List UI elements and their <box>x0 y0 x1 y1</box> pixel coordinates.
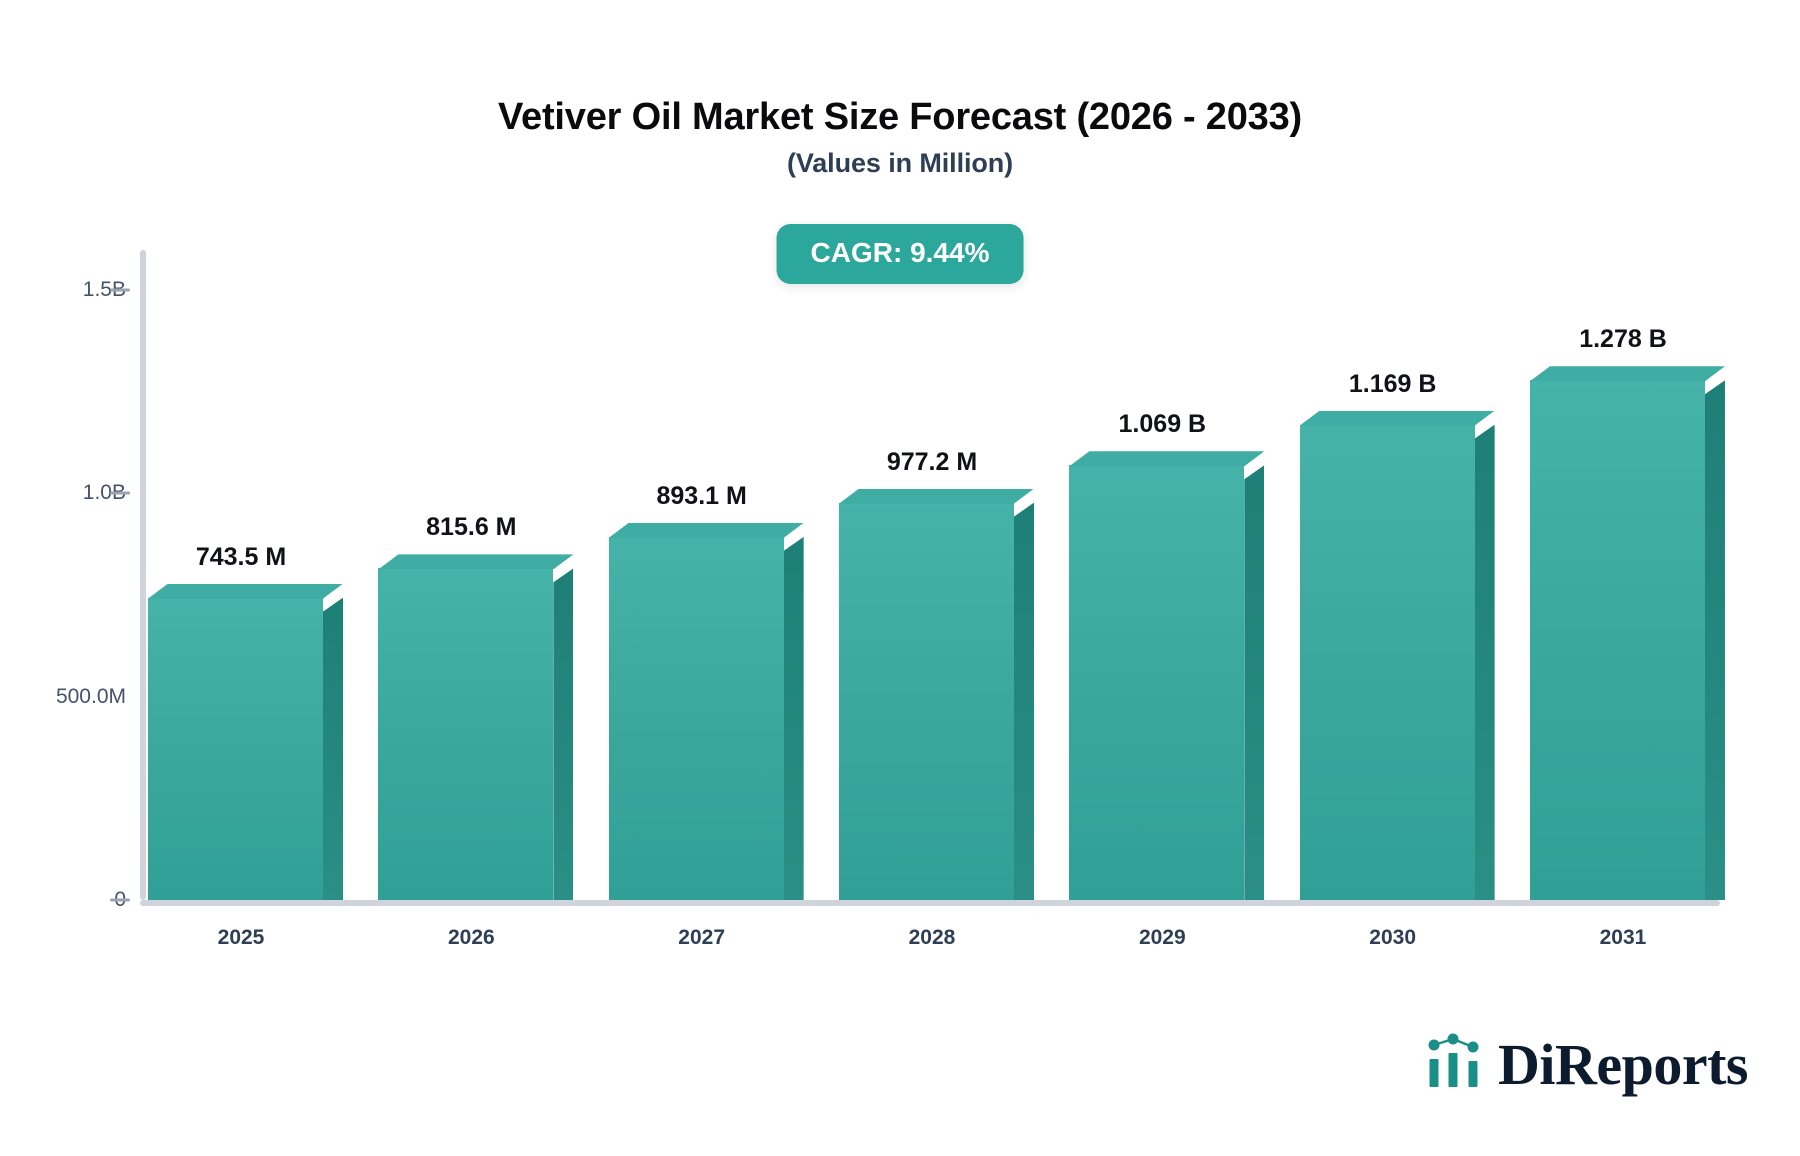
bar-chart-icon <box>1426 1033 1488 1096</box>
cagr-badge: CAGR: 9.44% <box>777 224 1024 284</box>
bar-slot: 1.169 B2030 <box>1292 290 1490 900</box>
bar-slot: 1.278 B2031 <box>1522 290 1720 900</box>
plot-area: 0500.0M1.0B1.5B 743.5 M2025815.6 M202689… <box>140 290 1720 900</box>
x-axis-tick-label: 2029 <box>1057 926 1267 950</box>
bar-value-label: 977.2 M <box>827 448 1037 477</box>
bar-slot: 977.2 M2028 <box>831 290 1029 900</box>
y-axis-tick-mark <box>110 289 130 292</box>
bar[interactable]: 743.5 M2025 <box>148 598 323 900</box>
bar[interactable]: 815.6 M2026 <box>378 568 553 900</box>
chart-title: Vetiver Oil Market Size Forecast (2026 -… <box>0 96 1800 139</box>
bar-slot: 893.1 M2027 <box>601 290 799 900</box>
bar[interactable]: 1.278 B2031 <box>1530 380 1705 900</box>
bar-group: 743.5 M2025815.6 M2026893.1 M2027977.2 M… <box>140 290 1720 900</box>
bar-front-face <box>1530 380 1705 900</box>
bar-value-label: 1.278 B <box>1518 325 1728 354</box>
bar-slot: 815.6 M2026 <box>370 290 568 900</box>
bar-top-face <box>1069 451 1264 466</box>
bar-side-face <box>784 537 804 900</box>
bar-value-label: 815.6 M <box>366 513 576 542</box>
bar[interactable]: 893.1 M2027 <box>609 537 784 900</box>
y-axis-tick-mark <box>110 492 130 495</box>
bar-value-label: 893.1 M <box>597 482 807 511</box>
logo-text: DiReports <box>1498 1036 1748 1094</box>
x-axis-line <box>140 900 1720 906</box>
bar-front-face <box>839 503 1014 900</box>
bar-slot: 1.069 B2029 <box>1061 290 1259 900</box>
x-axis-tick-label: 2030 <box>1288 926 1498 950</box>
x-axis-tick-label: 2026 <box>366 926 576 950</box>
brand-logo: DiReports <box>1426 1033 1748 1096</box>
bar-top-face <box>839 489 1034 504</box>
bar[interactable]: 1.169 B2030 <box>1300 425 1475 900</box>
bar-top-face <box>378 554 573 569</box>
bar-front-face <box>609 537 784 900</box>
bar-side-face <box>1244 465 1264 900</box>
bar-front-face <box>1069 465 1244 900</box>
x-axis-tick-label: 2025 <box>136 926 346 950</box>
y-axis-tick-label: 500.0M <box>56 685 126 709</box>
bar[interactable]: 977.2 M2028 <box>839 503 1014 900</box>
bar-side-face <box>1475 425 1495 900</box>
bar-front-face <box>378 568 553 900</box>
bar-side-face <box>553 568 573 900</box>
bar-value-label: 1.069 B <box>1057 410 1267 439</box>
x-axis-tick-label: 2031 <box>1518 926 1728 950</box>
x-axis-tick-label: 2027 <box>597 926 807 950</box>
bar-value-label: 743.5 M <box>136 543 346 572</box>
bar-top-face <box>609 523 804 538</box>
bar-front-face <box>1300 425 1475 900</box>
bar-top-face <box>1530 366 1725 381</box>
chart-page: Vetiver Oil Market Size Forecast (2026 -… <box>0 0 1800 1156</box>
chart-subtitle: (Values in Million) <box>0 148 1800 179</box>
y-axis-tick-mark <box>110 899 130 902</box>
bar-side-face <box>1014 503 1034 900</box>
bar[interactable]: 1.069 B2029 <box>1069 465 1244 900</box>
bar-top-face <box>1300 411 1495 426</box>
bar-front-face <box>148 598 323 900</box>
bar-side-face <box>1705 380 1725 900</box>
bar-value-label: 1.169 B <box>1288 370 1498 399</box>
x-axis-tick-label: 2028 <box>827 926 1037 950</box>
bar-slot: 743.5 M2025 <box>140 290 338 900</box>
bar-top-face <box>148 584 343 599</box>
bar-side-face <box>323 598 343 900</box>
